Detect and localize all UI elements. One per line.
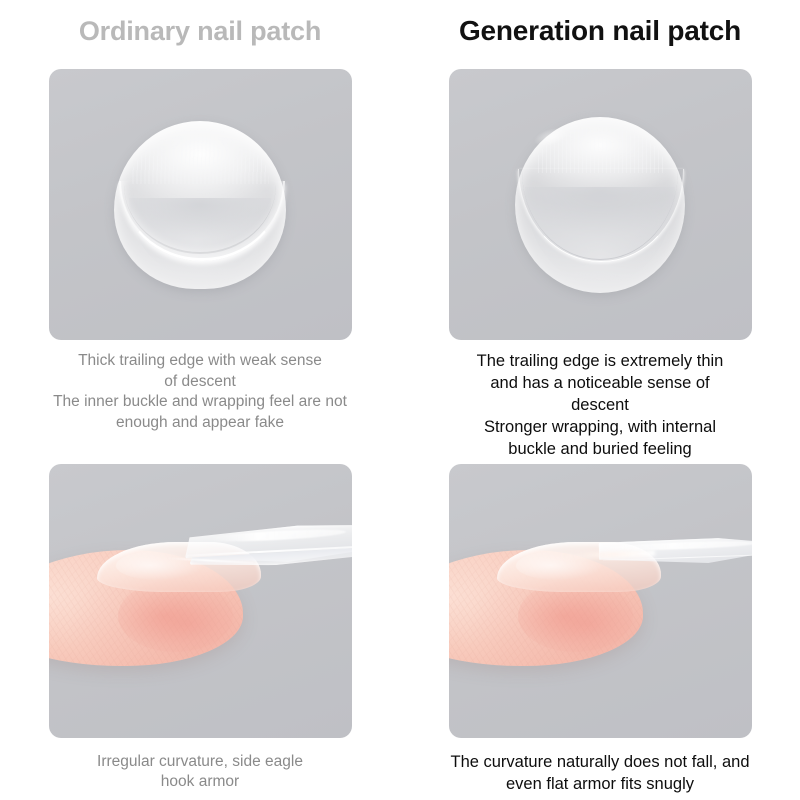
finger-scene — [449, 464, 752, 738]
cell-ordinary-fit: Irregular curvature, side eagle hook arm… — [0, 461, 400, 796]
comparison-row-fit: Irregular curvature, side eagle hook arm… — [0, 461, 800, 796]
column-title-ordinary: Ordinary nail patch — [79, 16, 321, 47]
caption-generation-fit: The curvature naturally does not fall, a… — [445, 752, 755, 796]
ordinary-patch-end-on-photo — [49, 69, 352, 340]
comparison-grid: Thick trailing edge with weak sense of d… — [0, 62, 800, 796]
applied-patch-thick — [183, 521, 351, 587]
cell-ordinary-edge: Thick trailing edge with weak sense of d… — [0, 62, 400, 461]
nail-patch-comparison: Ordinary nail patch Generation nail patc… — [0, 0, 800, 800]
nail-patch-shape-thin — [515, 117, 685, 293]
caption-ordinary-fit: Irregular curvature, side eagle hook arm… — [45, 752, 355, 793]
finger-scene — [49, 464, 352, 738]
cell-generation-fit: The curvature naturally does not fall, a… — [400, 461, 800, 796]
header-cell-generation: Generation nail patch — [400, 0, 800, 62]
nail-patch-shape-thick — [114, 121, 286, 289]
generation-patch-on-finger-photo — [449, 464, 752, 738]
column-title-generation: Generation nail patch — [459, 15, 741, 47]
caption-generation-edge: The trailing edge is extremely thin and … — [445, 351, 755, 461]
generation-patch-end-on-photo — [449, 69, 752, 340]
comparison-header-row: Ordinary nail patch Generation nail patc… — [0, 0, 800, 62]
cell-generation-edge: The trailing edge is extremely thin and … — [400, 62, 800, 461]
header-cell-ordinary: Ordinary nail patch — [0, 0, 400, 62]
applied-patch-thin — [598, 535, 752, 575]
comparison-row-edge: Thick trailing edge with weak sense of d… — [0, 62, 800, 461]
ordinary-patch-on-finger-photo — [49, 464, 352, 738]
caption-ordinary-edge: Thick trailing edge with weak sense of d… — [45, 351, 355, 433]
